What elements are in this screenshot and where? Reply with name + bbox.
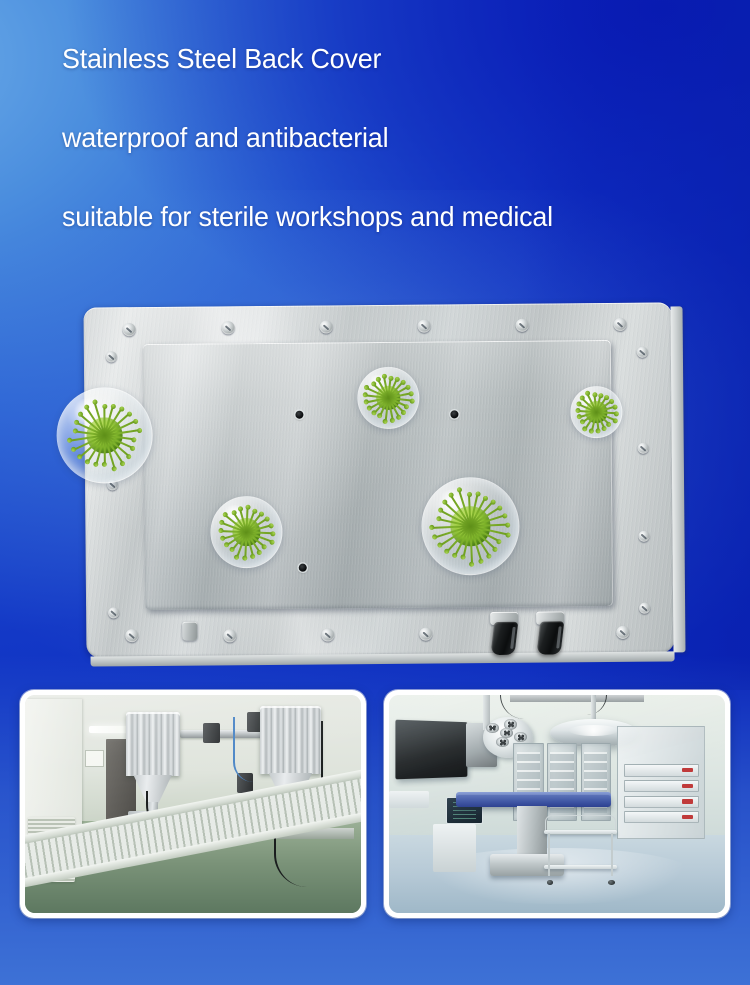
screw-right-2 (638, 531, 649, 542)
or-cart-leg-left (548, 833, 550, 876)
or-instrument-cart (544, 815, 618, 885)
screw-corner-tl (106, 351, 117, 362)
operating-room-scene (389, 695, 725, 913)
virus-icon (435, 491, 506, 562)
screw-top-2 (222, 321, 235, 334)
factory-hose-blue (233, 717, 253, 782)
headline-block: Stainless Steel Back Cover waterproof an… (62, 44, 722, 232)
headline-line-3: suitable for sterile workshops and medic… (62, 202, 696, 233)
gland-boot (537, 621, 565, 654)
screw-top-3 (320, 320, 333, 333)
panel-port (182, 622, 197, 641)
or-table-column (517, 806, 547, 854)
or-cart-wheel-right (608, 880, 615, 885)
bubble-top-center (357, 367, 420, 430)
screw-bottom-5 (616, 626, 629, 639)
screw-right-1 (638, 443, 649, 454)
factory-door-sign (85, 750, 103, 767)
factory-wall-panel (25, 699, 82, 834)
or-side-stand (433, 824, 477, 872)
or-rack-module-3 (624, 796, 699, 808)
photo-operating-room (384, 690, 730, 918)
cleanroom-scene (25, 695, 361, 913)
virus-icon (221, 507, 271, 557)
or-cart-wheel-left (547, 880, 554, 885)
screw-bottom-4 (419, 628, 432, 641)
or-rack-module-1 (624, 764, 699, 776)
or-ceiling-track (510, 695, 644, 702)
stainless-steel-back-cover (83, 302, 674, 657)
hero-product-image (0, 290, 750, 680)
or-wall-control-panel (389, 791, 429, 808)
screw-corner-bl (108, 607, 119, 618)
screw-corner-tr (637, 347, 648, 358)
screw-corner-br (639, 603, 650, 614)
screw-top-5 (516, 319, 529, 332)
bubble-left (56, 387, 153, 484)
or-rack-module-4 (624, 811, 699, 823)
screw-bottom-1 (125, 629, 138, 642)
photo-filling-line-image (25, 695, 361, 913)
gland-boot (491, 622, 519, 655)
screw-top-1 (123, 323, 136, 336)
bubble-top-right (570, 386, 622, 438)
screw-top-4 (418, 320, 431, 333)
or-equipment-rack (617, 726, 704, 839)
or-cart-shelf-top (544, 830, 618, 834)
factory-valve-1 (203, 723, 220, 743)
inner-panel-right-bevel (670, 306, 685, 652)
or-light-glow (569, 725, 618, 736)
bubble-bottom-center (421, 477, 520, 576)
hopper-drum (260, 706, 320, 774)
mounting-hole-1 (295, 411, 303, 419)
mounting-hole-3 (299, 564, 307, 572)
photo-operating-room-image (389, 695, 725, 913)
headline-line-2: waterproof and antibacterial (62, 123, 696, 154)
screw-top-6 (614, 318, 627, 331)
or-cart-shelf-bottom (544, 865, 618, 869)
virus-icon (72, 403, 137, 468)
or-supply-cabinet-2 (547, 743, 577, 821)
photo-filling-line (20, 690, 366, 918)
virus-icon (577, 393, 615, 431)
or-supply-cabinet-3 (581, 743, 611, 821)
headline-line-1: Stainless Steel Back Cover (62, 44, 696, 75)
or-cart-leg-right (611, 833, 613, 876)
screw-bottom-3 (321, 628, 334, 641)
or-rack-module-2 (624, 780, 699, 792)
mounting-hole-2 (450, 410, 458, 418)
cable-gland-2 (535, 611, 565, 655)
or-cart-rail (545, 815, 616, 832)
cable-gland-1 (489, 612, 519, 656)
screw-bottom-2 (223, 629, 236, 642)
application-photo-row (0, 690, 750, 920)
or-wall-monitor (395, 720, 467, 779)
virus-icon (366, 376, 410, 420)
bubble-bottom-left (210, 496, 283, 569)
hopper-drum (126, 712, 180, 775)
